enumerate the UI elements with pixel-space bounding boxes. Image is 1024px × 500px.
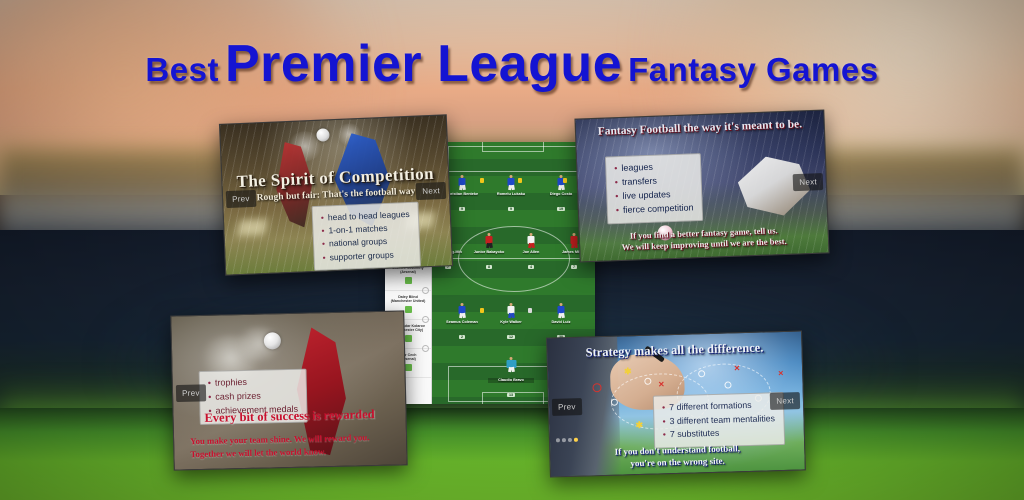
marker-cross-icon: × xyxy=(658,379,664,390)
bullet-item: fierce competition xyxy=(616,201,694,218)
prev-button[interactable]: Prev xyxy=(552,398,582,416)
pagination-dot[interactable] xyxy=(556,438,560,442)
player-name: Claudio Bravo xyxy=(488,378,534,383)
bullet-item: 7 substitutes xyxy=(663,425,776,442)
next-button[interactable]: Next xyxy=(416,182,446,200)
player-kit-icon xyxy=(457,304,468,318)
card-footer: You make your team shine. We will reward… xyxy=(182,430,399,461)
next-button[interactable]: Next xyxy=(770,392,800,410)
player-name: Seamus Coleman xyxy=(439,320,485,325)
goal-box-top xyxy=(482,142,544,152)
availability-badge xyxy=(405,306,412,313)
lineup-slot[interactable]: Seamus Coleman 2 xyxy=(439,320,485,343)
player-kit-icon xyxy=(506,304,517,318)
player-kit-icon xyxy=(506,176,517,190)
card-badge-icon xyxy=(528,308,532,313)
card-badge-icon xyxy=(518,178,522,183)
card-bullet-list: leagues transfers live updates fierce co… xyxy=(605,153,703,224)
gear-icon[interactable] xyxy=(422,287,429,294)
player-number: 19 xyxy=(557,207,565,211)
promo-banner: BestPremier LeagueFantasy Games Christia… xyxy=(0,0,1024,500)
card-badge-icon xyxy=(480,178,484,183)
slide-card-fantasy-football[interactable]: Fantasy Football the way it's meant to b… xyxy=(574,109,829,262)
marker-star-icon: ✱ xyxy=(624,366,632,377)
pagination-dot[interactable] xyxy=(562,438,566,442)
player-kit-icon xyxy=(526,234,537,248)
slide-card-success-rewarded[interactable]: trophies cash prizes achievement medals … xyxy=(170,310,407,470)
title-prefix: Best xyxy=(145,51,219,88)
bench-player-club: (Manchester United) xyxy=(388,299,428,303)
goalkeeper-kit-icon xyxy=(506,358,517,372)
pagination-dots[interactable] xyxy=(556,438,578,443)
player-name: Joe Allen xyxy=(510,250,552,255)
player-number: 8 xyxy=(486,265,492,269)
prev-button[interactable]: Prev xyxy=(226,190,256,208)
player-number: 4 xyxy=(528,265,534,269)
title-suffix: Fantasy Games xyxy=(628,51,878,88)
player-number: 12 xyxy=(507,335,515,339)
lineup-slot[interactable]: Kyle Walker 12 xyxy=(488,320,534,343)
pagination-dot[interactable] xyxy=(568,438,572,442)
prev-button[interactable]: Prev xyxy=(176,384,206,402)
lineup-slot[interactable]: Romelu Lukaku 9 xyxy=(488,192,534,215)
title-main: Premier League xyxy=(225,35,622,93)
marker-cross-icon: × xyxy=(734,363,740,374)
gear-icon[interactable] xyxy=(422,316,429,323)
player-kit-icon xyxy=(457,176,468,190)
availability-badge xyxy=(405,277,412,284)
marker-cross-icon: × xyxy=(778,368,784,378)
slide-card-spirit-of-competition[interactable]: The Spirit of Competition Rough but fair… xyxy=(219,114,453,275)
player-number: 7 xyxy=(571,265,577,269)
card-bullet-list: 7 different formations 3 different team … xyxy=(653,392,785,448)
lineup-slot[interactable]: Junior Bakayoko 8 xyxy=(467,250,511,273)
bench-player-club: (Arsenal) xyxy=(388,270,428,274)
card-badge-icon xyxy=(480,308,484,313)
player-name: David Luiz xyxy=(538,320,584,325)
player-name: Romelu Lukaku xyxy=(488,192,534,197)
player-number: 2 xyxy=(459,335,465,339)
slide-card-strategy[interactable]: × × × ✱ ✱ Strategy makes all the differe… xyxy=(546,330,806,477)
pagination-dot-active[interactable] xyxy=(574,438,578,442)
player-kit-icon xyxy=(556,304,567,318)
player-number: 9 xyxy=(459,207,465,211)
player-number: 9 xyxy=(508,207,514,211)
card-bullet-list: head to head leagues 1-on-1 matches nati… xyxy=(311,202,420,271)
player-name: Kyle Walker xyxy=(488,320,534,325)
gear-icon[interactable] xyxy=(422,345,429,352)
page-title: BestPremier LeagueFantasy Games xyxy=(0,34,1024,94)
marker-star-icon: ✱ xyxy=(635,420,643,431)
lineup-slot[interactable]: Joe Allen 4 xyxy=(510,250,552,273)
availability-badge xyxy=(405,335,412,342)
card-badge-icon xyxy=(563,178,567,183)
player-number: 13 xyxy=(507,393,515,397)
player-kit-icon xyxy=(484,234,495,248)
next-button[interactable]: Next xyxy=(793,173,823,191)
lineup-slot-goalkeeper[interactable]: Claudio Bravo 13 xyxy=(488,378,534,401)
player-name: Junior Bakayoko xyxy=(467,250,511,255)
